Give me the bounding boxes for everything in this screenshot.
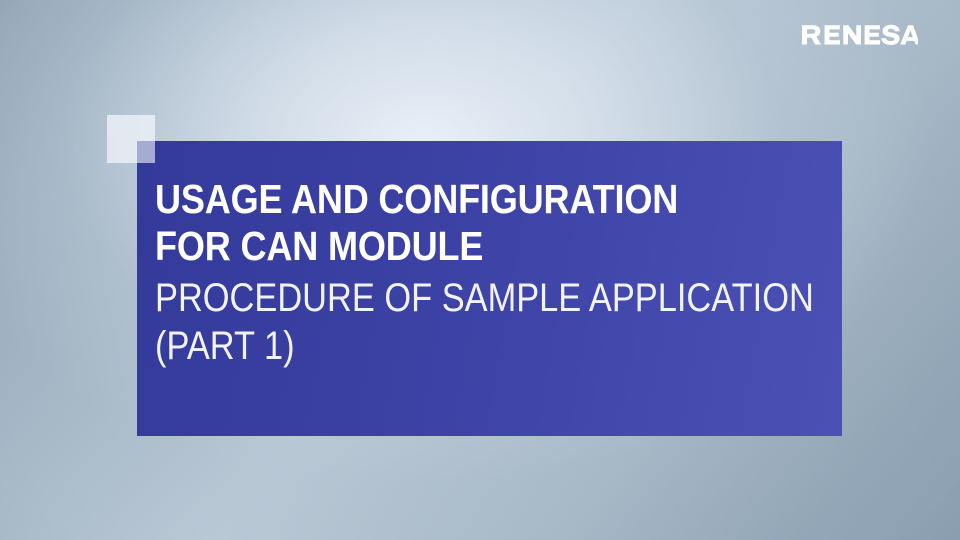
title-block: USAGE AND CONFIGURATION FOR CAN MODULE P… — [155, 176, 845, 370]
subtitle-line-2: (PART 1) — [155, 322, 748, 370]
headline-line-2: FOR CAN MODULE — [155, 223, 762, 270]
headline-line-1: USAGE AND CONFIGURATION — [155, 176, 762, 223]
renesas-logo — [800, 22, 918, 48]
title-slide: USAGE AND CONFIGURATION FOR CAN MODULE P… — [0, 0, 960, 540]
renesas-logo-icon — [800, 22, 918, 48]
subtitle-line-1: PROCEDURE OF SAMPLE APPLICATION — [155, 274, 748, 322]
